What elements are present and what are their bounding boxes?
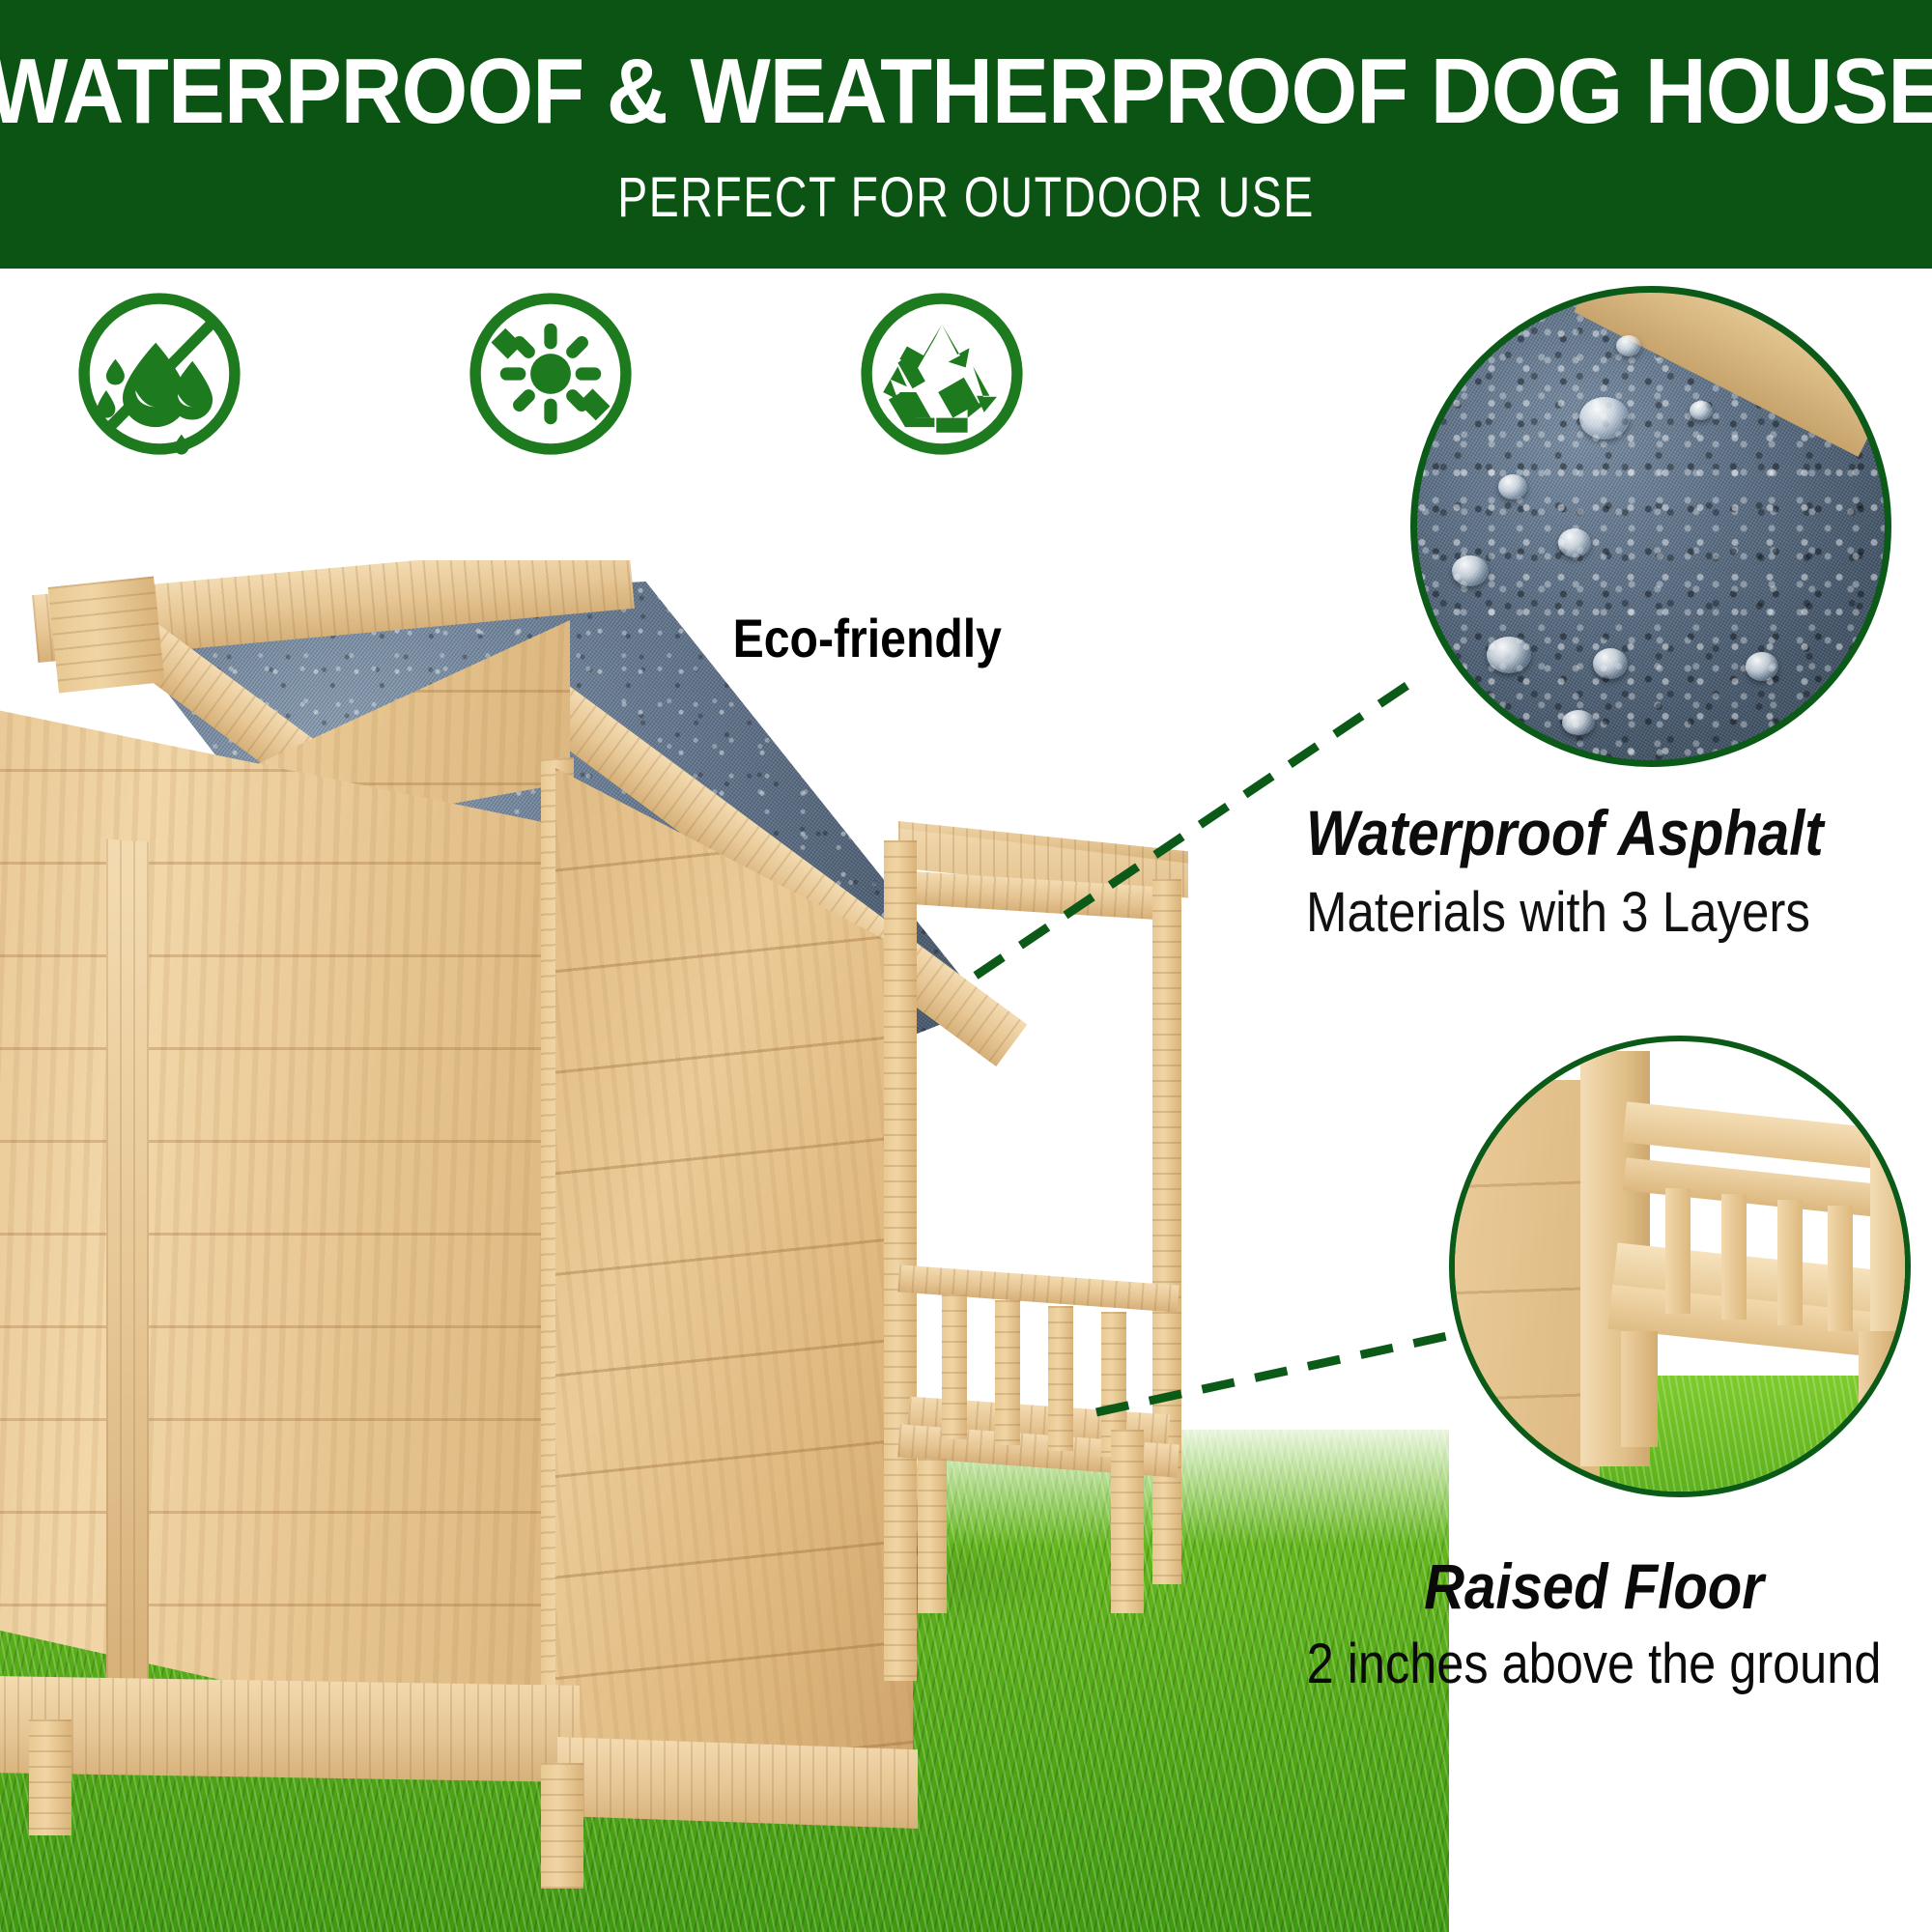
house-front-wall xyxy=(0,676,570,1758)
inset-baluster xyxy=(1665,1188,1690,1314)
inset-house-wall xyxy=(1449,1080,1600,1486)
page-subtitle: PERFECT FOR OUTDOOR USE xyxy=(617,165,1315,230)
feature-icon-row xyxy=(68,282,1034,562)
callout-asphalt-title: Waterproof Asphalt xyxy=(1306,800,1857,867)
inset-leg-left xyxy=(1621,1331,1658,1447)
water-droplet xyxy=(1562,710,1595,735)
porch-post-right xyxy=(1152,879,1181,1584)
inset-leg-right xyxy=(1859,1331,1897,1447)
water-droplet xyxy=(1746,652,1778,681)
callout-raised-floor: Raised Floor 2 inches above the ground xyxy=(1256,1553,1932,1696)
water-droplet xyxy=(1593,648,1628,679)
no-uv-sun-icon xyxy=(459,282,642,466)
porch-baluster xyxy=(942,1294,967,1439)
no-water-droplet-icon xyxy=(68,282,251,466)
inset-baluster xyxy=(1721,1194,1747,1320)
page-title: WATERPROOF & WEATHERPROOF DOG HOUSE xyxy=(0,45,1932,138)
house-foot-left xyxy=(29,1719,71,1835)
header-banner: WATERPROOF & WEATHERPROOF DOG HOUSE PERF… xyxy=(0,0,1932,269)
callout-raised-floor-title: Raised Floor xyxy=(1296,1553,1891,1620)
feature-badge-uv-resistant xyxy=(459,282,642,466)
callout-raised-floor-subtitle: 2 inches above the ground xyxy=(1300,1632,1889,1696)
product-photo xyxy=(0,560,1449,1932)
porch-leg-back xyxy=(918,1459,947,1613)
feature-badge-eco-friendly xyxy=(850,282,1034,466)
porch-baluster xyxy=(1048,1306,1073,1451)
porch-baluster xyxy=(995,1300,1020,1445)
raised-floor-closeup-inset xyxy=(1449,1036,1911,1497)
porch-leg-front xyxy=(1111,1430,1144,1613)
house-base-skirt-side xyxy=(555,1737,918,1829)
roof-asphalt-closeup-inset xyxy=(1410,286,1891,767)
water-droplet xyxy=(1452,555,1489,586)
porch-rail-top xyxy=(897,1264,1179,1312)
water-droplet xyxy=(1487,637,1531,673)
porch-post-left xyxy=(884,840,917,1681)
callout-asphalt-subtitle: Materials with 3 Layers xyxy=(1306,880,1857,945)
house-base-skirt xyxy=(0,1676,580,1782)
callout-asphalt: Waterproof Asphalt Materials with 3 Laye… xyxy=(1306,800,1932,945)
water-droplet xyxy=(1616,335,1641,356)
inset-baluster xyxy=(1777,1200,1803,1325)
recycle-icon xyxy=(850,282,1034,466)
water-droplet xyxy=(1690,401,1713,420)
water-droplet xyxy=(1579,397,1630,440)
roof-ridge-block xyxy=(48,577,165,694)
feature-badge-waterproof xyxy=(68,282,251,466)
water-droplet xyxy=(1498,474,1527,499)
water-droplet xyxy=(1558,528,1591,557)
house-foot-middle xyxy=(541,1763,583,1889)
inset-baluster xyxy=(1828,1206,1853,1331)
house-wall-batten xyxy=(106,838,149,1701)
